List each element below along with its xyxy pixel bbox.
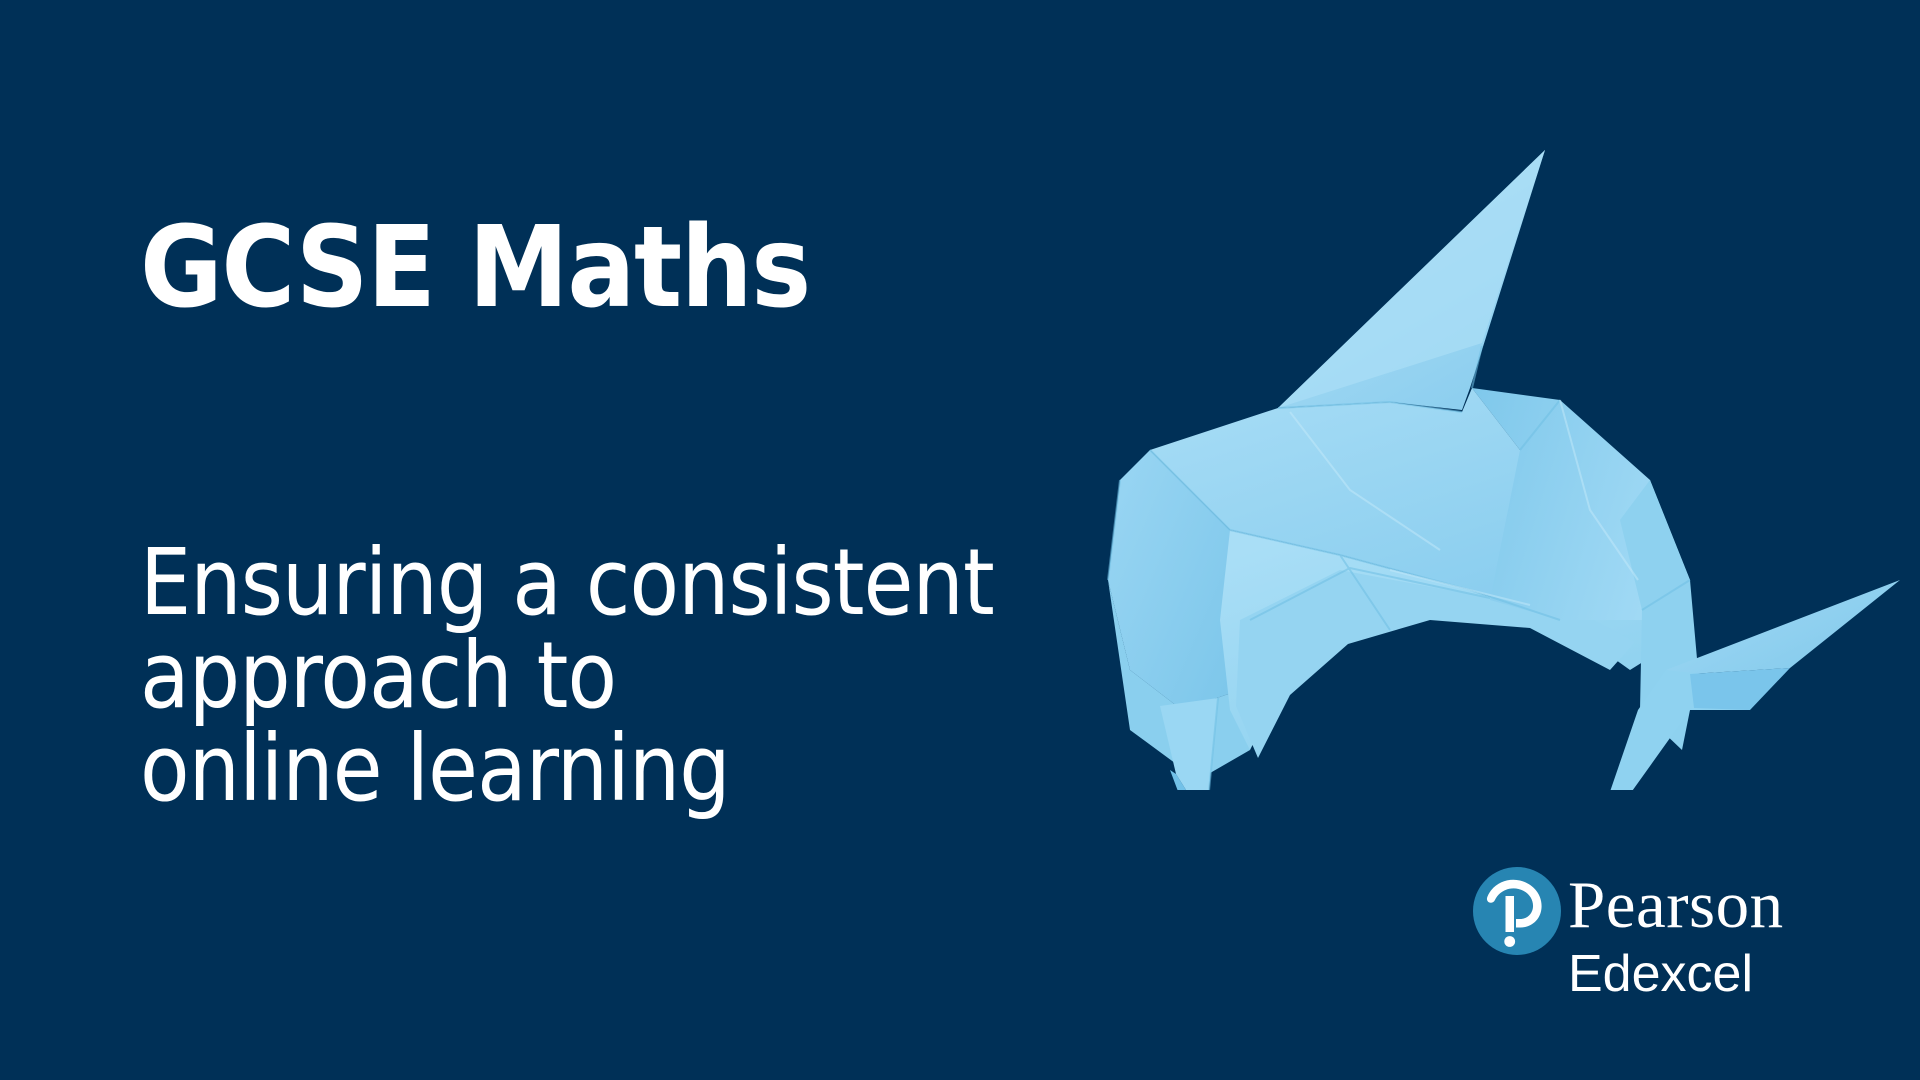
origami-tail-notch — [1690, 668, 1790, 710]
origami-dolphin-image — [1090, 150, 1900, 790]
logo-p-dot — [1504, 936, 1515, 947]
subtitle-line-1: Ensuring a consistent — [140, 536, 994, 629]
subtitle: Ensuring a consistent approach to online… — [140, 536, 994, 815]
slide-canvas: GCSE Maths Ensuring a consistent approac… — [0, 0, 1920, 1080]
page-title: GCSE Maths — [140, 206, 986, 330]
subtitle-line-3: online learning — [140, 722, 994, 815]
origami-dolphin-illustration — [1090, 150, 1900, 790]
logo-p-stem — [1506, 896, 1515, 932]
text-block: GCSE Maths Ensuring a consistent approac… — [140, 206, 1080, 330]
subtitle-line-2: approach to — [140, 629, 994, 722]
pearson-interrobang-icon — [1472, 866, 1562, 956]
pearson-edexcel-logo: Pearson Edexcel — [1472, 862, 1872, 1022]
brand-wordmark-pearson: Pearson — [1568, 870, 1784, 940]
origami-tail-upper-lobe — [1666, 580, 1900, 674]
brand-wordmark-edexcel: Edexcel — [1568, 946, 1753, 1002]
pearson-mark-svg — [1472, 866, 1562, 956]
